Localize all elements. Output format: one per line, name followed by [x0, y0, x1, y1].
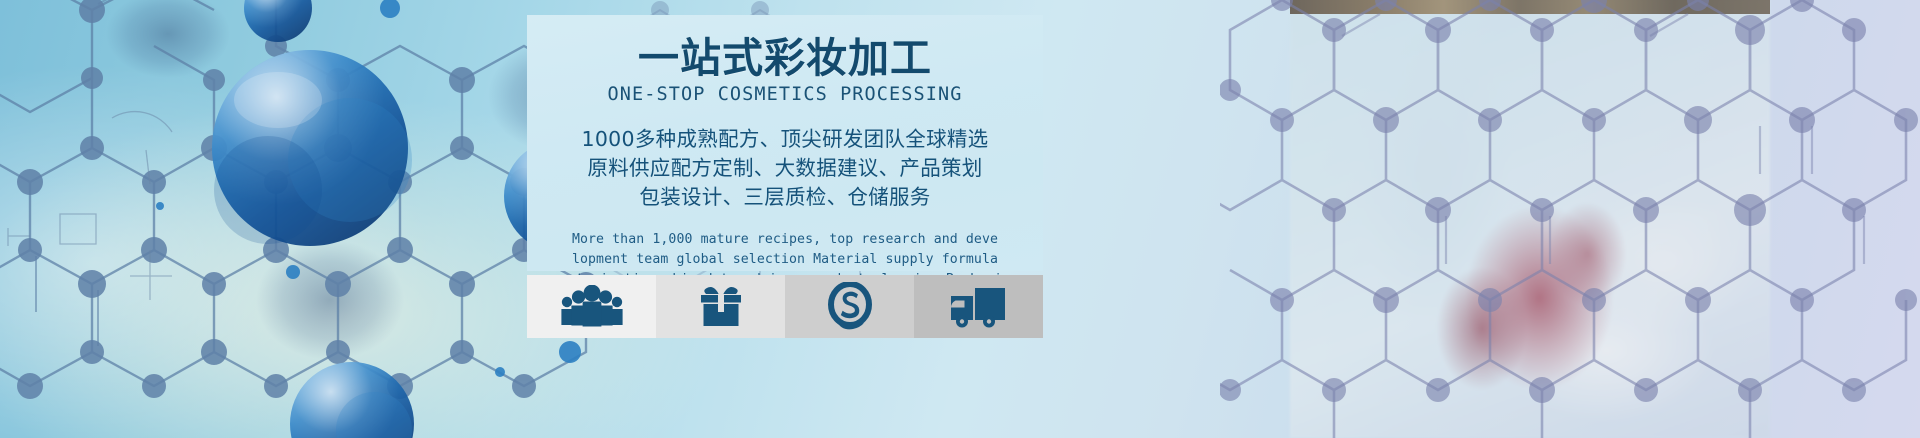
people-group-icon: [559, 285, 625, 329]
feature-cell-packaging[interactable]: [656, 275, 785, 338]
description-en-line: lopment team global selection Material s…: [541, 250, 1029, 270]
description-cn-line: 包装设计、三层质检、仓储服务: [527, 183, 1043, 212]
cosmetics-processing-banner: 一站式彩妆加工 ONE-STOP COSMETICS PROCESSING 10…: [0, 0, 1920, 438]
qs-quality-mark-icon: [827, 282, 873, 332]
page-title: 一站式彩妆加工: [527, 15, 1043, 80]
feature-cell-logistics[interactable]: [914, 275, 1043, 338]
page-subtitle: ONE-STOP COSMETICS PROCESSING: [527, 84, 1043, 105]
right-molecular-artwork: [1220, 0, 1920, 438]
delivery-truck-icon: [951, 286, 1007, 328]
feature-cell-team[interactable]: [527, 275, 656, 338]
feature-cell-quality[interactable]: [785, 275, 914, 338]
description-en-line: More than 1,000 mature recipes, top rese…: [541, 230, 1029, 250]
feature-icon-strip: [527, 275, 1043, 338]
hexagon-lattice-right-icon: [1220, 0, 1920, 438]
description-cn-line: 1000多种成熟配方、顶尖研发团队全球精选: [527, 125, 1043, 154]
gift-box-icon: [698, 284, 744, 330]
description-chinese: 1000多种成熟配方、顶尖研发团队全球精选 原料供应配方定制、大数据建议、产品策…: [527, 125, 1043, 212]
description-cn-line: 原料供应配方定制、大数据建议、产品策划: [527, 154, 1043, 183]
promo-card: 一站式彩妆加工 ONE-STOP COSMETICS PROCESSING 10…: [527, 15, 1043, 271]
